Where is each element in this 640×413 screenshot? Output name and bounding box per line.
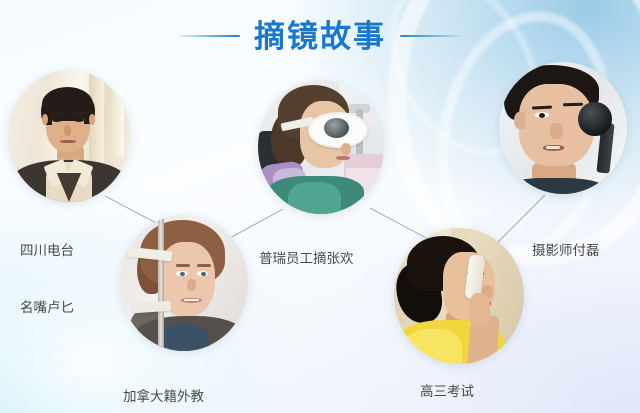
caption-line-1: 普瑞员工摘张欢 (259, 249, 354, 268)
portrait-sichuan-radio-host[interactable] (8, 70, 130, 202)
title-rule-right (400, 35, 462, 37)
photo-prui-staff-zhang-huan (258, 80, 384, 214)
caption-photographer-fu-lei: 摄影师付磊 (532, 203, 600, 298)
caption-line-1: 四川电台 (20, 241, 74, 260)
caption-line-1: 摄影师付磊 (532, 241, 600, 260)
photo-sichuan-radio-host (8, 70, 130, 202)
caption-gaokao-student-zeng-jiyao: 高三考试 曾继瑶 (420, 344, 474, 413)
caption-line-1: 高三考试 (420, 382, 474, 401)
page-title: 摘镜故事 (254, 21, 386, 52)
page-header: 摘镜故事 (0, 12, 640, 60)
portrait-canadian-teacher-amil[interactable] (120, 215, 248, 351)
story-board: 摘镜故事 四川电台 名嘴卢匕 (0, 0, 640, 413)
portrait-photographer-fu-lei[interactable] (499, 62, 627, 194)
photo-canadian-teacher-amil (120, 215, 248, 351)
photo-photographer-fu-lei (499, 62, 627, 194)
caption-line-2: 名嘴卢匕 (20, 298, 74, 317)
caption-line-1: 加拿大籍外教 (123, 387, 204, 406)
title-rule-left (178, 35, 240, 37)
portrait-prui-staff-zhang-huan[interactable] (258, 80, 384, 214)
caption-sichuan-radio-host: 四川电台 名嘴卢匕 (20, 203, 74, 355)
caption-canadian-teacher-amil: 加拿大籍外教 Amil (123, 349, 204, 413)
caption-prui-staff-zhang-huan: 普瑞员工摘张欢 (259, 211, 354, 306)
